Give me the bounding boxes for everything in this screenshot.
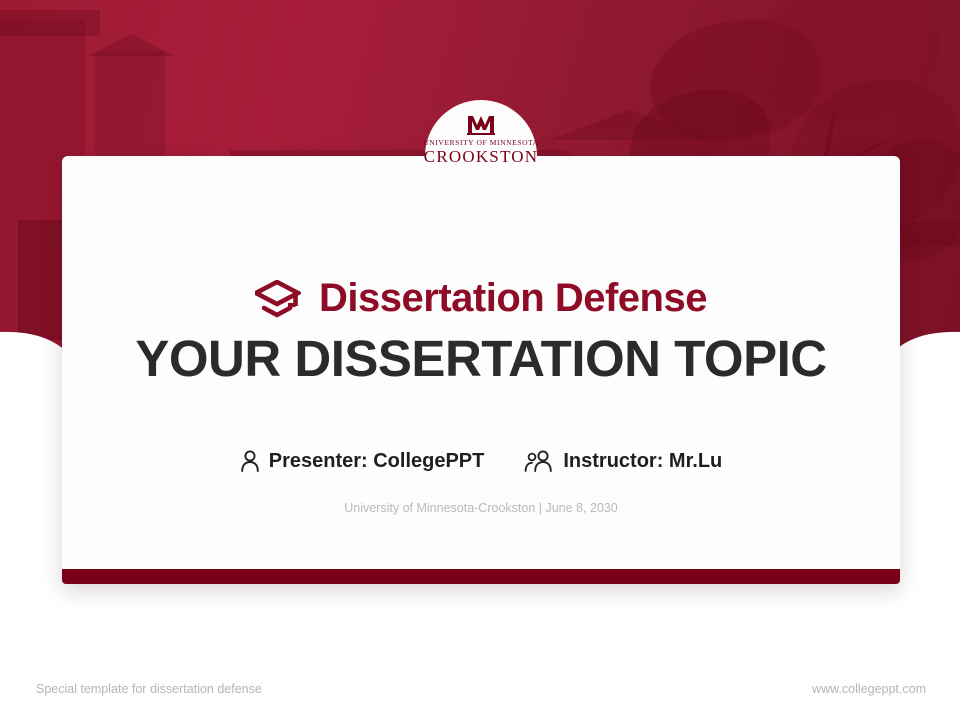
graduation-cap-icon (255, 280, 301, 318)
minnesota-m-icon (466, 112, 496, 136)
title-card: UNIVERSITY OF MINNESOTA CROOKSTON Disser… (62, 156, 900, 584)
footer-website[interactable]: www.collegeppt.com (812, 682, 926, 696)
affiliation-and-date: University of Minnesota-Crookston | June… (62, 501, 900, 515)
presenter-label: Presenter: CollegePPT (269, 450, 485, 473)
person-icon (240, 449, 260, 473)
instructor-block: Instructor: Mr.Lu (524, 449, 722, 473)
presenter-block: Presenter: CollegePPT (240, 449, 485, 473)
crest-line-university: UNIVERSITY OF MINNESOTA (406, 139, 556, 147)
university-logo: UNIVERSITY OF MINNESOTA CROOKSTON (406, 112, 556, 165)
people-icon (524, 449, 554, 473)
page-title: YOUR DISSERTATION TOPIC (62, 329, 900, 388)
footer-note: Special template for dissertation defens… (36, 682, 262, 696)
crest-line-campus: CROOKSTON (406, 148, 556, 165)
kicker-row: Dissertation Defense (62, 276, 900, 321)
kicker-label: Dissertation Defense (319, 276, 707, 321)
card-accent-bar (62, 569, 900, 584)
people-row: Presenter: CollegePPT Instructor: Mr.Lu (62, 449, 900, 473)
instructor-label: Instructor: Mr.Lu (563, 450, 722, 473)
